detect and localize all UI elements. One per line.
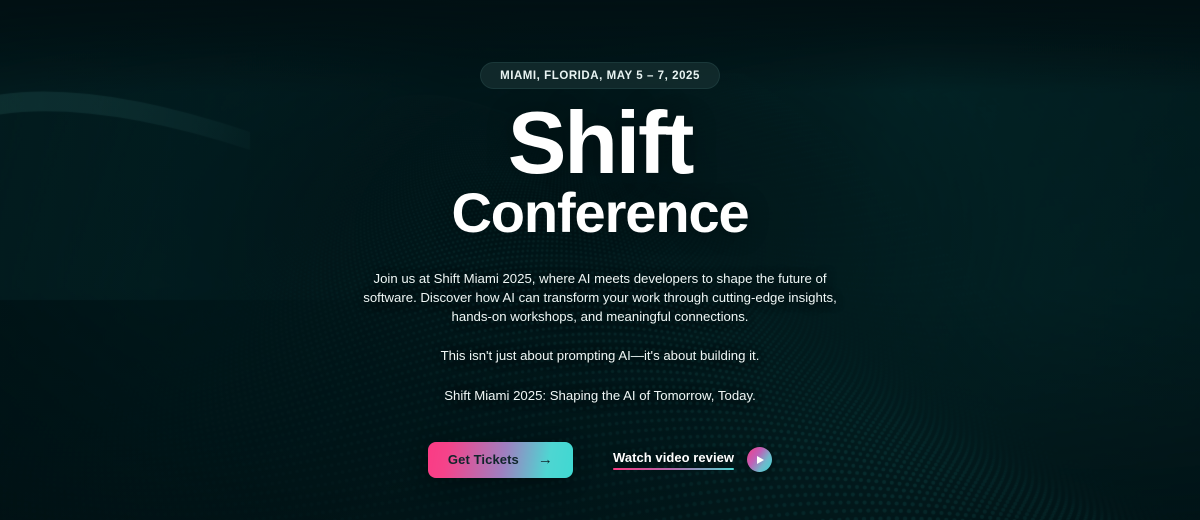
- event-date-badge: MIAMI, FLORIDA, MAY 5 – 7, 2025: [480, 62, 720, 89]
- hero-description: Join us at Shift Miami 2025, where AI me…: [350, 269, 850, 405]
- hero-section: MIAMI, FLORIDA, MAY 5 – 7, 2025 Shift Co…: [0, 0, 1200, 520]
- description-paragraph-2: This isn't just about prompting AI—it's …: [350, 346, 850, 365]
- cta-row: Get Tickets → Watch video review: [428, 442, 772, 478]
- arrow-right-icon: →: [538, 452, 553, 467]
- watch-video-review-link[interactable]: Watch video review: [613, 447, 772, 472]
- get-tickets-button[interactable]: Get Tickets →: [428, 442, 573, 478]
- play-triangle: [757, 456, 764, 464]
- title-sub: Conference: [451, 183, 748, 242]
- page-title: Shift Conference: [451, 101, 748, 243]
- play-icon[interactable]: [747, 447, 772, 472]
- watch-video-label: Watch video review: [613, 450, 734, 470]
- get-tickets-label: Get Tickets: [448, 452, 519, 467]
- description-paragraph-3: Shift Miami 2025: Shaping the AI of Tomo…: [350, 386, 850, 405]
- description-paragraph-1: Join us at Shift Miami 2025, where AI me…: [350, 269, 850, 327]
- hero-content: MIAMI, FLORIDA, MAY 5 – 7, 2025 Shift Co…: [0, 0, 1200, 520]
- title-main: Shift: [451, 101, 748, 185]
